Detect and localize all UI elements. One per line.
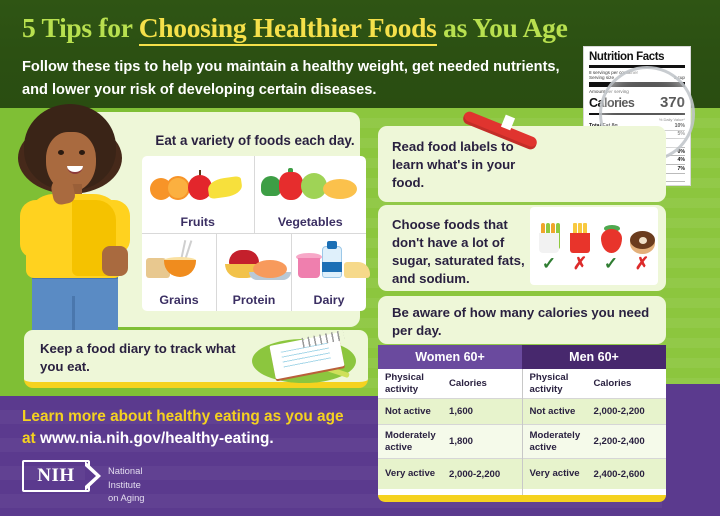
forearm-right (102, 246, 128, 276)
dairy-illustration (292, 234, 366, 293)
food-group-dairy: Dairy (292, 234, 366, 311)
learn-more-text: Learn more about healthy eating as you a… (22, 406, 352, 450)
cell-activity: Not active (385, 406, 447, 417)
food-group-label: Grains (159, 293, 198, 307)
table-row: Not active 2,000-2,200 (523, 399, 667, 425)
purple-right-band (662, 384, 720, 516)
infographic-root: 5 Tips for Choosing Healthier Foods as Y… (0, 0, 720, 516)
food-group-vegetables: Vegetables (255, 156, 367, 233)
column-label-calories: Calories (592, 378, 660, 389)
table-row: Moderately active 1,800 (378, 425, 522, 459)
cell-calories: 2,000-2,200 (592, 406, 660, 417)
orange-slice-icon (166, 176, 190, 200)
cell-activity: Very active (530, 468, 592, 479)
cheese-icon (344, 262, 370, 278)
nutrition-facts-title: Nutrition Facts (589, 51, 685, 63)
cell-calories: 1,800 (447, 436, 515, 447)
veggie-sticks-icon (534, 213, 564, 255)
cell-activity: Not active (530, 406, 592, 417)
food-group-label: Vegetables (278, 215, 343, 229)
cell-activity: Very active (385, 468, 447, 479)
x-mark-icon: ✗ (627, 255, 657, 272)
food-groups-grid: Fruits Vegetables (142, 156, 366, 311)
nih-wordmark: NIH (22, 460, 90, 492)
food-group-grains: Grains (142, 234, 217, 311)
tip-panel-calories: Be aware of how many calories you need p… (378, 296, 666, 344)
table-body: Physical activity Calories Not active 1,… (378, 369, 666, 495)
nf-row-dv: 4% (678, 157, 686, 163)
food-groups-row-top: Fruits Vegetables (142, 156, 366, 234)
table-side-men: Physical activity Calories Not active 2,… (523, 369, 667, 495)
protein-illustration (217, 234, 291, 293)
tip-food-diary-text: Keep a food diary to track what you eat. (40, 340, 240, 376)
food-group-label: Protein (233, 293, 276, 307)
column-label-activity: Physical activity (530, 372, 592, 395)
nf-row-dv: 7% (678, 166, 686, 172)
donut-hole-icon (639, 237, 647, 244)
magnifier-handle-graphic (521, 76, 617, 172)
checkmark-icon: ✓ (534, 255, 564, 272)
squash-icon (323, 179, 357, 199)
choice-veggie-sticks: ✓ (534, 213, 564, 281)
nih-logo: NIH National Institute on Aging (22, 460, 172, 494)
milk-label-icon (322, 262, 342, 272)
subtitle: Follow these tips to help you maintain a… (22, 56, 567, 101)
tip-choose-foods-text: Choose foods that don't have a lot of su… (392, 216, 540, 288)
choice-french-fries: ✗ (565, 213, 595, 281)
eye-right (79, 150, 85, 155)
donut-icon (627, 213, 657, 255)
tip-panel-choose-foods: Choose foods that don't have a lot of su… (378, 205, 666, 291)
calorie-needs-table: Women 60+ Men 60+ Physical activity Calo… (378, 345, 666, 502)
title-part-2: as You Age (437, 12, 568, 43)
fruits-illustration (142, 156, 254, 215)
table-row: Moderately active 2,200-2,400 (523, 425, 667, 459)
table-row: Very active 2,400-2,600 (523, 459, 667, 489)
choice-strawberry: ✓ (596, 213, 626, 281)
cell-activity: Moderately active (530, 430, 592, 453)
strawberry-icon (596, 213, 626, 255)
table-side-women: Physical activity Calories Not active 1,… (378, 369, 523, 495)
cell-calories: 2,200-2,400 (592, 436, 660, 447)
table-header-women: Women 60+ (378, 345, 522, 369)
fish-icon (253, 260, 287, 278)
table-column-header-row: Physical activity Calories (378, 369, 522, 399)
red-pepper-icon (279, 172, 303, 200)
nih-subtitle-line2: on Aging (108, 491, 172, 505)
milk-cap-icon (327, 241, 337, 249)
tip-read-labels-text: Read food labels to learn what's in your… (392, 138, 542, 192)
nih-subtitle-line1: National Institute (108, 464, 172, 491)
food-groups-row-bottom: Grains Protein (142, 234, 366, 311)
fries-carton-icon (570, 233, 590, 253)
french-fries-icon (565, 213, 595, 255)
nih-chevron-inner-icon (85, 466, 96, 486)
yogurt-cup-icon (298, 258, 320, 278)
title-highlight: Choosing Healthier Foods (139, 12, 437, 46)
vegetables-illustration (255, 156, 367, 215)
cell-calories: 2,400-2,600 (592, 469, 660, 480)
food-diary-illustration (252, 333, 356, 385)
choice-donut: ✗ (627, 213, 657, 281)
checkmark-icon: ✓ (596, 255, 626, 272)
cell-activity: Moderately active (385, 430, 447, 453)
variety-heading: Eat a variety of foods each day. (145, 133, 365, 148)
title-part-1: 5 Tips for (22, 12, 139, 43)
eye-left (58, 150, 64, 155)
food-group-protein: Protein (217, 234, 292, 311)
food-group-label: Fruits (181, 215, 215, 229)
broccoli-icon (261, 176, 281, 196)
food-group-label: Dairy (314, 293, 345, 307)
table-row: Very active 2,000-2,200 (378, 459, 522, 489)
column-label-activity: Physical activity (385, 372, 447, 395)
banana-icon (207, 176, 243, 200)
grains-illustration (142, 234, 216, 293)
nih-subtitle: National Institute on Aging (108, 464, 172, 505)
table-column-header-row: Physical activity Calories (523, 369, 667, 399)
learn-more-url[interactable]: www.nia.nih.gov/healthy-eating. (40, 430, 274, 447)
strawberry-body-icon (601, 229, 622, 253)
x-mark-icon: ✗ (565, 255, 595, 272)
veggie-cup-icon (539, 233, 559, 253)
cell-calories: 2,000-2,200 (447, 469, 515, 480)
woman-illustration (10, 104, 140, 336)
tip-calories-text: Be aware of how many calories you need p… (392, 304, 652, 340)
table-header-men: Men 60+ (522, 345, 666, 369)
column-label-calories: Calories (447, 378, 515, 389)
table-header-row: Women 60+ Men 60+ (378, 345, 666, 369)
jeans (32, 272, 118, 336)
food-choice-comparison: ✓ ✗ ✓ (530, 207, 658, 285)
tip-panel-read-labels: Read food labels to learn what's in your… (378, 126, 666, 202)
tip-panel-food-diary: Keep a food diary to track what you eat. (24, 330, 368, 388)
cell-calories: 1,600 (447, 406, 515, 417)
page-title: 5 Tips for Choosing Healthier Foods as Y… (22, 12, 568, 44)
table-row: Not active 1,600 (378, 399, 522, 425)
food-group-fruits: Fruits (142, 156, 255, 233)
